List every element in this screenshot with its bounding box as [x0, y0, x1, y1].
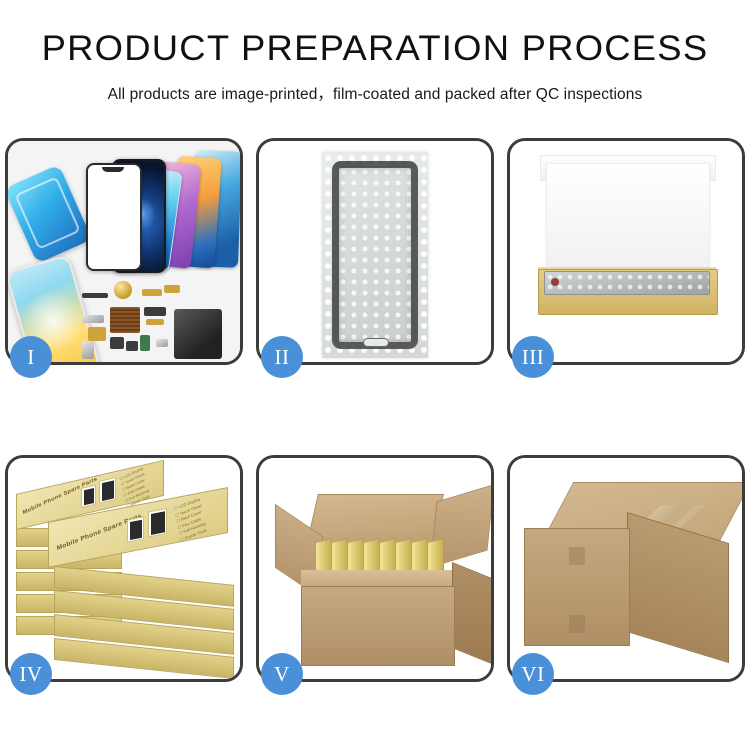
packed-screen: [544, 271, 710, 295]
phone-display-front: [86, 163, 142, 271]
step-badge-2: II: [261, 336, 303, 378]
carton-front-panel: [301, 586, 455, 666]
step-image-5: [259, 458, 491, 679]
box-stack: Mobile Phone Spare Parts ☐ LCD Display☐ …: [14, 470, 240, 675]
step-card-1: I: [5, 138, 243, 365]
header: PRODUCT PREPARATION PROCESS All products…: [0, 0, 750, 104]
product-preparation-infographic: PRODUCT PREPARATION PROCESS All products…: [0, 0, 750, 750]
step-card-4: Mobile Phone Spare Parts ☐ LCD Display☐ …: [5, 455, 243, 682]
step-badge-4: IV: [10, 653, 52, 695]
step-image-6: [510, 458, 742, 679]
step-image-4: Mobile Phone Spare Parts ☐ LCD Display☐ …: [8, 458, 240, 679]
step-badge-5: V: [261, 653, 303, 695]
box-checklist-front: ☐ LCD Display☐ Touch Panel☐ Back Cover☐ …: [173, 496, 207, 544]
screen-protector-film: [8, 164, 92, 263]
spare-parts-group: [80, 279, 230, 362]
step-card-2: II: [256, 138, 494, 365]
step-card-3: III: [507, 138, 745, 365]
step-card-6: VI: [507, 455, 745, 682]
step-image-2: [259, 141, 491, 362]
step-image-3: [510, 141, 742, 362]
carton-side-right: [452, 562, 491, 667]
page-title: PRODUCT PREPARATION PROCESS: [0, 30, 750, 69]
step-badge-6: VI: [512, 653, 554, 695]
step-badge-1: I: [10, 336, 52, 378]
carton-left-panel: [524, 528, 630, 646]
step-image-1: [8, 141, 240, 362]
step-badge-3: III: [512, 336, 554, 378]
wrapped-screen: [332, 161, 418, 349]
page-subtitle: All products are image-printed，film-coat…: [0, 82, 750, 104]
process-step-grid: I II III: [5, 138, 745, 682]
step-card-5: V: [256, 455, 494, 682]
foam-padding: [546, 163, 710, 277]
